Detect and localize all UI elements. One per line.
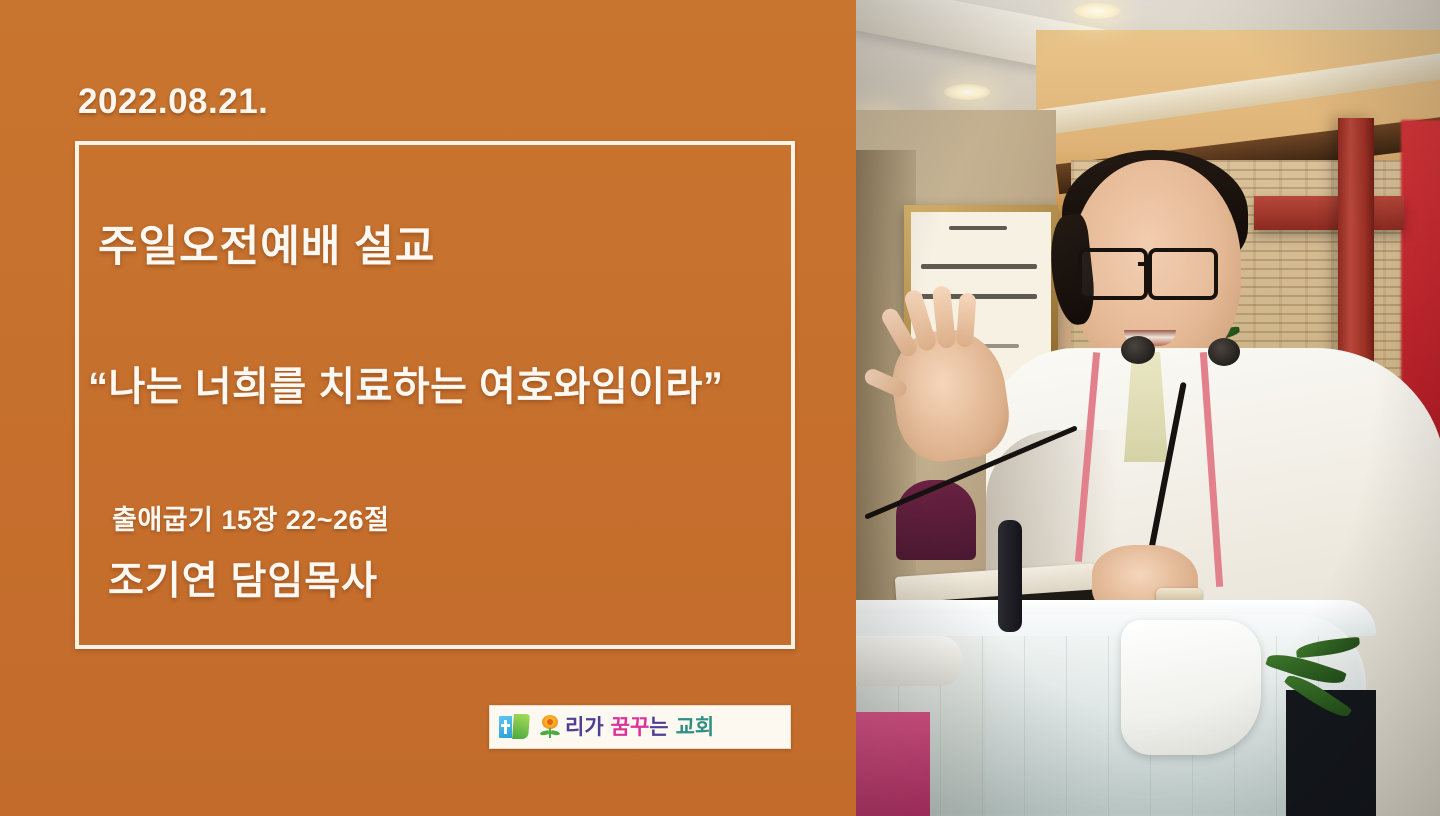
glasses-bridge [1138, 262, 1152, 266]
flower-leaf-left [540, 730, 550, 736]
logo-text-part-3: 는 [649, 716, 668, 739]
cross-icon [499, 716, 512, 738]
left-info-panel: 2022.08.21. 주일오전예배 설교 “나는 너희를 치료하는 여호와임이… [0, 0, 856, 816]
service-type-label: 주일오전예배 설교 [98, 212, 435, 274]
pink-seat [856, 712, 930, 816]
microphone-head-left [1121, 336, 1155, 364]
plant-leaf [1295, 637, 1360, 659]
ceiling-light-icon [944, 84, 990, 100]
glasses-left-lens [1078, 248, 1148, 300]
logo-text-part-2: 꿈꾸 [611, 716, 650, 739]
white-cloth-left [856, 636, 962, 686]
flower-core [547, 719, 553, 725]
church-logo: 리가꿈꾸는교회 [489, 705, 791, 749]
preacher-name: 조기연 담임목사 [108, 550, 378, 606]
pastor-photo [856, 0, 1440, 816]
finger [956, 292, 977, 347]
logo-text-part-1: 리가 [565, 716, 604, 739]
flower-icon [538, 714, 562, 740]
ceiling-light-icon [1074, 3, 1120, 19]
sermon-title-card: 2022.08.21. 주일오전예배 설교 “나는 너희를 치료하는 여호와임이… [0, 0, 1440, 816]
cross-horizontal-beam [1254, 196, 1404, 230]
open-door-icon [512, 714, 530, 739]
logo-text-part-4: 교회 [676, 716, 715, 739]
banner-text-line [921, 264, 1037, 269]
chair-back [896, 480, 976, 560]
flower-leaf-right [551, 730, 561, 736]
plant-lower [1206, 640, 1356, 770]
door-cross-icon [499, 714, 531, 740]
microphone-body [998, 520, 1022, 632]
sermon-date: 2022.08.21. [78, 82, 268, 122]
church-logo-text: 리가꿈꾸는교회 [565, 717, 714, 738]
scripture-reference: 출애굽기 15장 22~26절 [112, 498, 389, 537]
glasses-right-lens [1148, 248, 1218, 300]
sermon-title: “나는 너희를 치료하는 여호와임이라” [88, 354, 723, 412]
banner-heading-line [949, 226, 1007, 230]
microphone-head-right [1208, 338, 1240, 366]
